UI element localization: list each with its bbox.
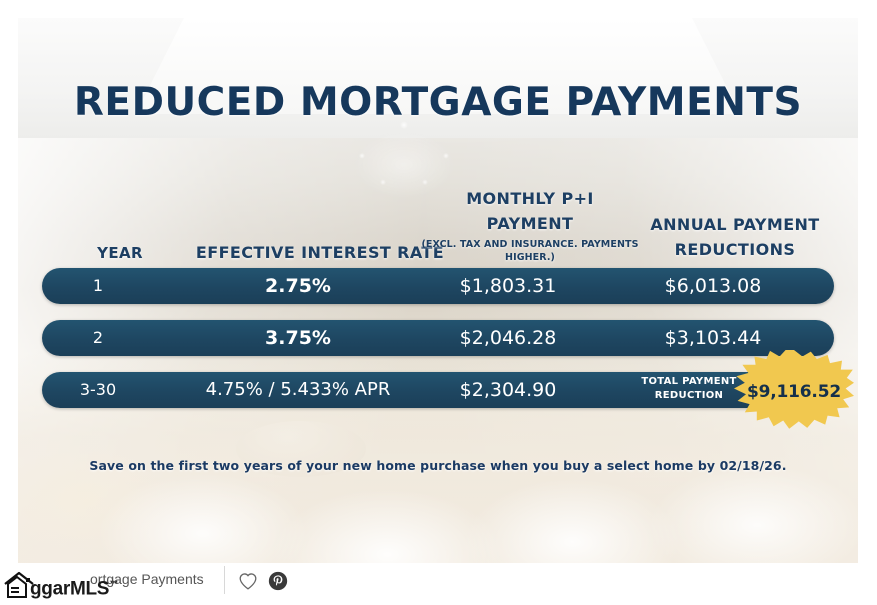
cell-year: 2: [48, 320, 148, 356]
table-header-row: YEAR EFFECTIVE INTEREST RATE MONTHLY P+I…: [40, 168, 846, 264]
page-title: REDUCED MORTGAGE PAYMENTS: [18, 80, 858, 125]
total-label-line2: REDUCTION: [655, 390, 723, 401]
cell-year: 1: [48, 268, 148, 304]
cell-annual: $6,013.08: [578, 268, 848, 304]
favorite-button[interactable]: [237, 570, 259, 592]
toolbar-divider: [224, 566, 225, 594]
flyer-content: REDUCED MORTGAGE PAYMENTS YEAR EFFECTIVE…: [18, 18, 858, 563]
total-label-line1: TOTAL PAYMENT: [641, 376, 736, 387]
column-header-year: YEAR: [70, 244, 170, 262]
column-header-monthly-payment-line1: MONTHLY P+I: [466, 189, 594, 208]
cell-annual: $3,103.44: [578, 320, 848, 356]
pinterest-share-button[interactable]: [267, 570, 289, 592]
heart-icon: [237, 570, 259, 592]
cell-year: 3-30: [48, 372, 148, 408]
pinterest-icon: [267, 570, 289, 592]
table-row: 3-30 4.75% / 5.433% APR $2,304.90 TOTAL …: [42, 372, 772, 408]
rate-table: 1 2.75% $1,803.31 $6,013.08 2 3.75% $2,0…: [42, 268, 834, 424]
column-header-annual-payment-reductions: ANNUAL PAYMENT REDUCTIONS: [600, 212, 858, 262]
image-viewer: REDUCED MORTGAGE PAYMENTS YEAR EFFECTIVE…: [0, 0, 877, 605]
total-reduction-amount: $9,116.52: [747, 382, 841, 402]
column-header-annual-line2: REDUCTIONS: [675, 240, 796, 259]
trademark-symbol: ™: [109, 579, 118, 589]
mls-watermark-text: ggarMLS™: [30, 573, 118, 600]
column-header-monthly-payment-line2: PAYMENT: [487, 214, 574, 233]
table-row: 2 3.75% $2,046.28 $3,103.44: [42, 320, 834, 356]
total-payment-reduction-label: TOTAL PAYMENT REDUCTION: [624, 375, 754, 403]
cell-payment: $2,304.90: [378, 372, 638, 408]
mls-watermark: ggarMLS™: [2, 566, 118, 600]
starburst-badge: $9,116.52: [734, 350, 854, 432]
table-row: 1 2.75% $1,803.31 $6,013.08: [42, 268, 834, 304]
mortgage-flyer-image[interactable]: REDUCED MORTGAGE PAYMENTS YEAR EFFECTIVE…: [18, 18, 858, 563]
promo-disclaimer-note: Save on the first two years of your new …: [18, 458, 858, 473]
column-header-annual-line1: ANNUAL PAYMENT: [650, 215, 819, 234]
